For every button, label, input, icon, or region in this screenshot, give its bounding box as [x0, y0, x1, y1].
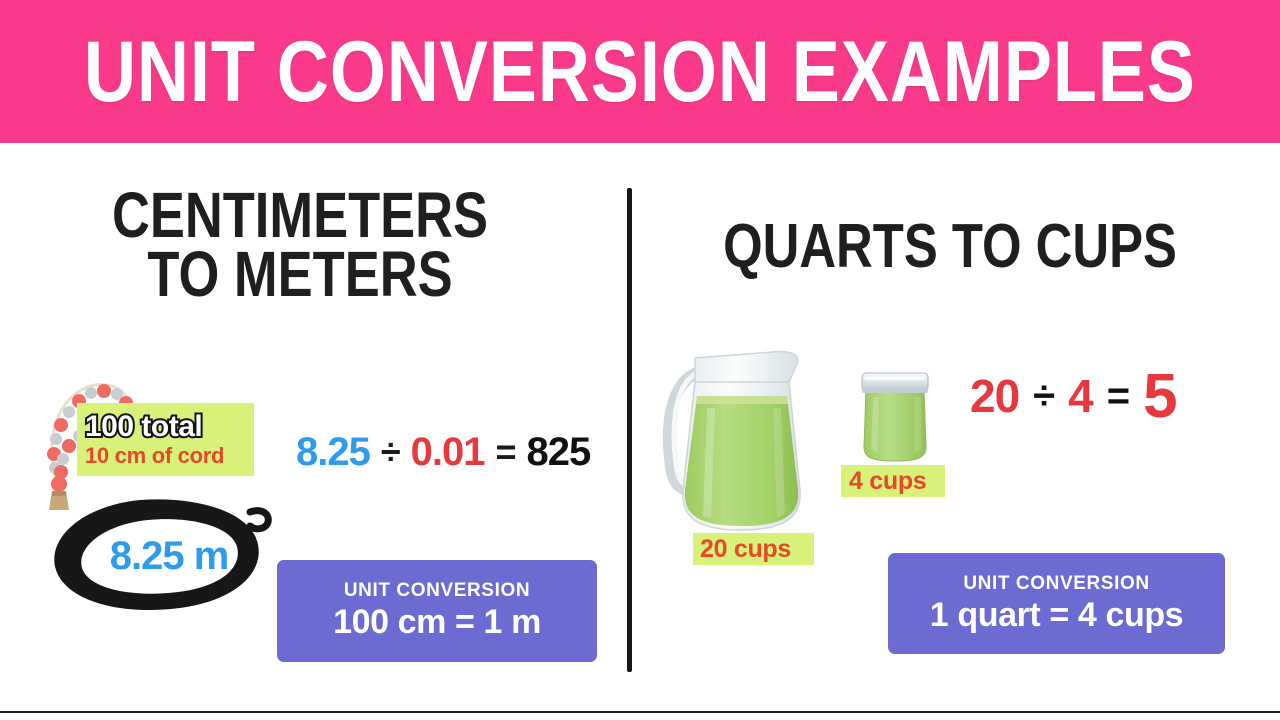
- cord-callout: 100 total 10 cm of cord: [77, 403, 254, 476]
- slide-root: UNIT CONVERSION EXAMPLES CENTIMETERS TO …: [0, 0, 1280, 720]
- mason-jar-icon: [853, 365, 937, 463]
- cord-length-label: 10 cm of cord: [85, 443, 254, 469]
- left-equation-operand-b: 0.01: [411, 430, 485, 475]
- right-equation-operand-a: 20: [970, 369, 1019, 423]
- right-equation-result: 5: [1143, 361, 1176, 432]
- left-equation-result: 825: [527, 430, 591, 475]
- right-equation-operand-b: 4: [1068, 369, 1093, 423]
- left-unit-conversion-kicker: UNIT CONVERSION: [344, 580, 530, 602]
- cord-coil-icon: 8.25 m: [44, 494, 280, 618]
- left-panel-title-line1: CENTIMETERS: [54, 186, 546, 245]
- left-unit-conversion-value: 100 cm = 1 m: [333, 602, 541, 642]
- equals-icon: =: [495, 431, 515, 473]
- left-equation: 8.25 ÷ 0.01 = 825: [296, 427, 596, 477]
- equals-icon: =: [1107, 374, 1129, 419]
- page-title: UNIT CONVERSION EXAMPLES: [84, 29, 1196, 115]
- left-panel-title-line2: TO METERS: [54, 245, 546, 304]
- coil-measure-label: 8.25 m: [44, 494, 280, 618]
- left-unit-conversion-card: UNIT CONVERSION 100 cm = 1 m: [277, 560, 597, 662]
- jar-capacity-label: 4 cups: [841, 465, 945, 497]
- left-equation-operand-a: 8.25: [296, 430, 370, 475]
- glass-pitcher-icon: [661, 338, 815, 546]
- right-unit-conversion-kicker: UNIT CONVERSION: [963, 573, 1149, 595]
- divide-icon: ÷: [381, 431, 400, 473]
- pitcher-capacity-label: 20 cups: [693, 533, 814, 565]
- right-equation: 20 ÷ 4 = 5: [970, 360, 1250, 432]
- right-panel-title: QUARTS TO CUPS: [696, 218, 1204, 275]
- left-panel-title: CENTIMETERS TO METERS: [54, 186, 546, 304]
- right-unit-conversion-value: 1 quart = 4 cups: [930, 595, 1183, 635]
- bottom-rule: [0, 711, 1280, 713]
- header-banner: UNIT CONVERSION EXAMPLES: [0, 0, 1280, 143]
- right-unit-conversion-card: UNIT CONVERSION 1 quart = 4 cups: [888, 553, 1225, 654]
- divide-icon: ÷: [1033, 374, 1054, 419]
- vertical-divider: [627, 188, 632, 672]
- cord-total-label: 100 total: [85, 411, 254, 443]
